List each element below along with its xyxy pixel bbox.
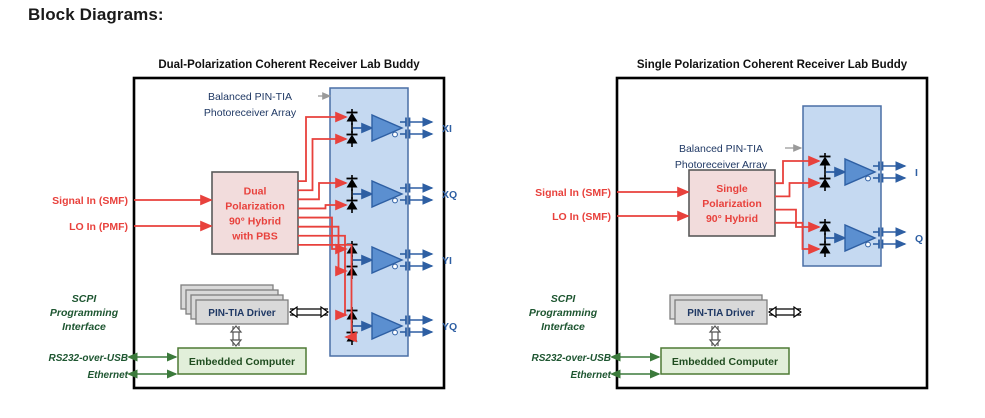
hybrid-label-line-1: Polarization [225,201,285,213]
input-port-label-1: LO In (PMF) [69,221,128,233]
output-label-XQ: XQ [442,189,457,201]
input-port-label-0: Signal In (SMF) [535,187,611,199]
output-label-YI: YI [442,255,452,267]
array-annotation-line2: Photoreceiver Array [675,159,768,171]
waveguide-5 [298,227,346,271]
hybrid-label-line-1: Polarization [702,198,762,210]
input-port-label-1: LO In (SMF) [552,211,611,223]
interface-port-label-1: Ethernet [570,370,611,381]
array-annotation-line1: Balanced PIN-TIA [208,91,292,103]
scpi-interface-line-1: Programming [529,307,598,319]
amplifier-invert-dot-Q [866,242,871,247]
output-label-XI: XI [442,123,452,135]
pin-tia-driver-label: PIN-TIA Driver [208,308,276,319]
array-annotation-line2: Photoreceiver Array [204,107,297,119]
scpi-interface-line-1: Programming [50,307,119,319]
embedded-computer-label: Embedded Computer [672,356,778,368]
input-port-label-0: Signal In (SMF) [52,195,128,207]
amplifier-invert-dot-XI [393,132,398,137]
diagram-title-single: Single Polarization Coherent Receiver La… [637,59,908,71]
amplifier-invert-dot-XQ [393,198,398,203]
hybrid-label-line-3: with PBS [231,231,278,243]
output-label-I: I [915,167,918,179]
interface-port-label-0: RS232-over-USB [49,353,128,364]
scpi-interface-line-0: SCPI [551,293,577,305]
pin-tia-driver-label: PIN-TIA Driver [687,308,755,319]
block-diagram-single-polarization: Single Polarization Coherent Receiver La… [493,52,985,412]
hybrid-label-line-2: 90° Hybrid [229,216,281,228]
hybrid-label-line-2: 90° Hybrid [706,213,758,225]
output-label-YQ: YQ [442,321,457,333]
diagram-title-dual: Dual-Polarization Coherent Receiver Lab … [158,59,420,71]
page-title: Block Diagrams: [28,5,164,25]
scpi-interface-line-2: Interface [62,321,106,333]
output-label-Q: Q [915,233,923,245]
scpi-interface-line-2: Interface [541,321,585,333]
scpi-interface-line-0: SCPI [72,293,98,305]
interface-port-label-0: RS232-over-USB [532,353,611,364]
amplifier-invert-dot-YQ [393,330,398,335]
hybrid-label-line-0: Single [716,183,748,195]
amplifier-invert-dot-I [866,176,871,181]
embedded-computer-label: Embedded Computer [189,356,295,368]
interface-port-label-1: Ethernet [87,370,128,381]
block-diagram-dual-polarization: Dual-Polarization Coherent Receiver Lab … [0,52,493,412]
hybrid-label-line-0: Dual [244,186,267,198]
amplifier-invert-dot-YI [393,264,398,269]
array-annotation-line1: Balanced PIN-TIA [679,143,763,155]
